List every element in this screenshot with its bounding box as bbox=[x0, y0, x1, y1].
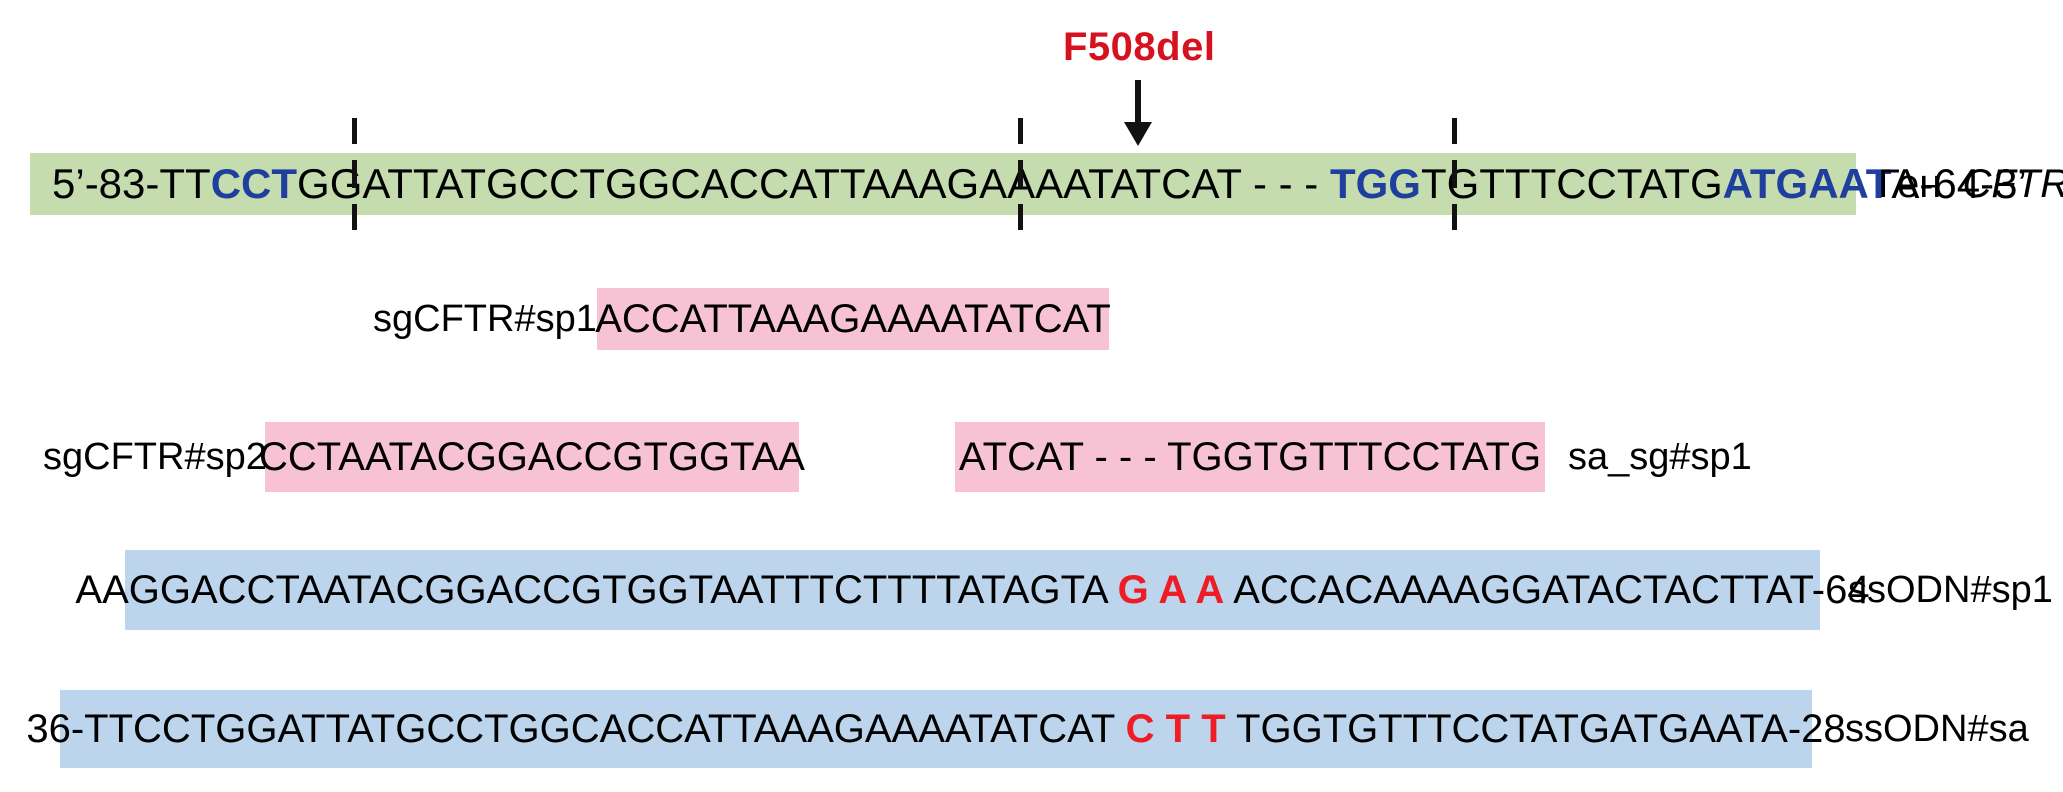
cftr-gene-sequence: 5’-83-TTCCTGGATTATGCCTGGCACCATTAAAGAAAAT… bbox=[52, 160, 2027, 208]
sgrna-sequence-sg-sp2: CCTAATACGGACCGTGGTAA bbox=[259, 435, 805, 480]
sequence-segment-plain: 5’-83-TT bbox=[52, 160, 211, 207]
down-arrow-icon-shaft bbox=[1135, 80, 1141, 128]
ssodn-box-sa: 36-TTCCTGGATTATGCCTGGCACCATTAAAGAAAATATC… bbox=[60, 690, 1812, 768]
cut-site-marker-1 bbox=[352, 118, 357, 230]
sequence-segment-plain: ACCACAAAAGGATACTACTTAT-64 bbox=[1224, 568, 1869, 612]
down-arrow-icon-head bbox=[1124, 122, 1152, 146]
ssodn-label-sp1: ssODN#sp1 bbox=[1848, 550, 2053, 630]
sgrna-sequence-sa-sp1: ATCAT - - - TGGTGTTTCCTATG bbox=[959, 435, 1541, 480]
ssodn-box-sp1: AAGGACCTAATACGGACCGTGGTAATTTCTTTTATAGTA … bbox=[125, 550, 1820, 630]
sequence-segment-plain: GGATTATGCCTGGCACCATTAAAGAAAATATCAT - - - bbox=[297, 160, 1330, 207]
sequence-segment-edit: C T T bbox=[1126, 707, 1226, 751]
ssodn-sequence-sa: 36-TTCCTGGATTATGCCTGGCACCATTAAAGAAAATATC… bbox=[26, 707, 1845, 752]
sequence-segment-plain: TGGTGTTTCCTATGATGAATA-28 bbox=[1226, 707, 1846, 751]
sgrna-label-sa-sp1: sa_sg#sp1 bbox=[1568, 422, 1752, 492]
gene-label-name: CFTR bbox=[1952, 162, 2063, 207]
sgrna-sequence-sg-sp1: ACCATTAAAGAAAATATCAT bbox=[595, 297, 1111, 342]
sgrna-label-sg-sp2: sgCFTR#sp2 bbox=[43, 422, 267, 492]
sequence-segment-plain: AAGGACCTAATACGGACCGTGGTAATTTCTTTTATAGTA bbox=[75, 568, 1117, 612]
cut-site-marker-3 bbox=[1452, 118, 1457, 230]
ssodn-label-sa: ssODN#sa bbox=[1845, 690, 2029, 768]
cftr-gene-label: Ген CFTR bbox=[1878, 153, 2063, 215]
gene-label-prefix: Ген bbox=[1878, 162, 1952, 207]
sequence-segment-pam: CCT bbox=[211, 160, 297, 207]
sgrna-box-sa-sp1: ATCAT - - - TGGTGTTTCCTATG bbox=[955, 422, 1545, 492]
cftr-gene-sequence-bar: 5’-83-TTCCTGGATTATGCCTGGCACCATTAAAGAAAAT… bbox=[30, 153, 1856, 215]
sequence-segment-pam: TGG bbox=[1330, 160, 1421, 207]
ssodn-sequence-sp1: AAGGACCTAATACGGACCGTGGTAATTTCTTTTATAGTA … bbox=[75, 568, 1869, 613]
sequence-segment-pam: ATGAAT bbox=[1723, 160, 1892, 207]
sgrna-box-sg-sp2: CCTAATACGGACCGTGGTAA bbox=[265, 422, 799, 492]
sequence-segment-edit: G A A bbox=[1118, 568, 1225, 612]
figure-canvas: F508del 5’-83-TTCCTGGATTATGCCTGGCACCATTA… bbox=[0, 0, 2063, 792]
sgrna-label-sg-sp1: sgCFTR#sp1 bbox=[373, 288, 597, 350]
cut-site-marker-2 bbox=[1018, 118, 1023, 230]
sequence-segment-plain: 36-TTCCTGGATTATGCCTGGCACCATTAAAGAAAATATC… bbox=[26, 707, 1125, 751]
sgrna-box-sg-sp1: ACCATTAAAGAAAATATCAT bbox=[597, 288, 1109, 350]
f508del-mutation-label: F508del bbox=[1063, 25, 1215, 70]
sequence-segment-plain: TGTTTCCTATG bbox=[1421, 160, 1723, 207]
